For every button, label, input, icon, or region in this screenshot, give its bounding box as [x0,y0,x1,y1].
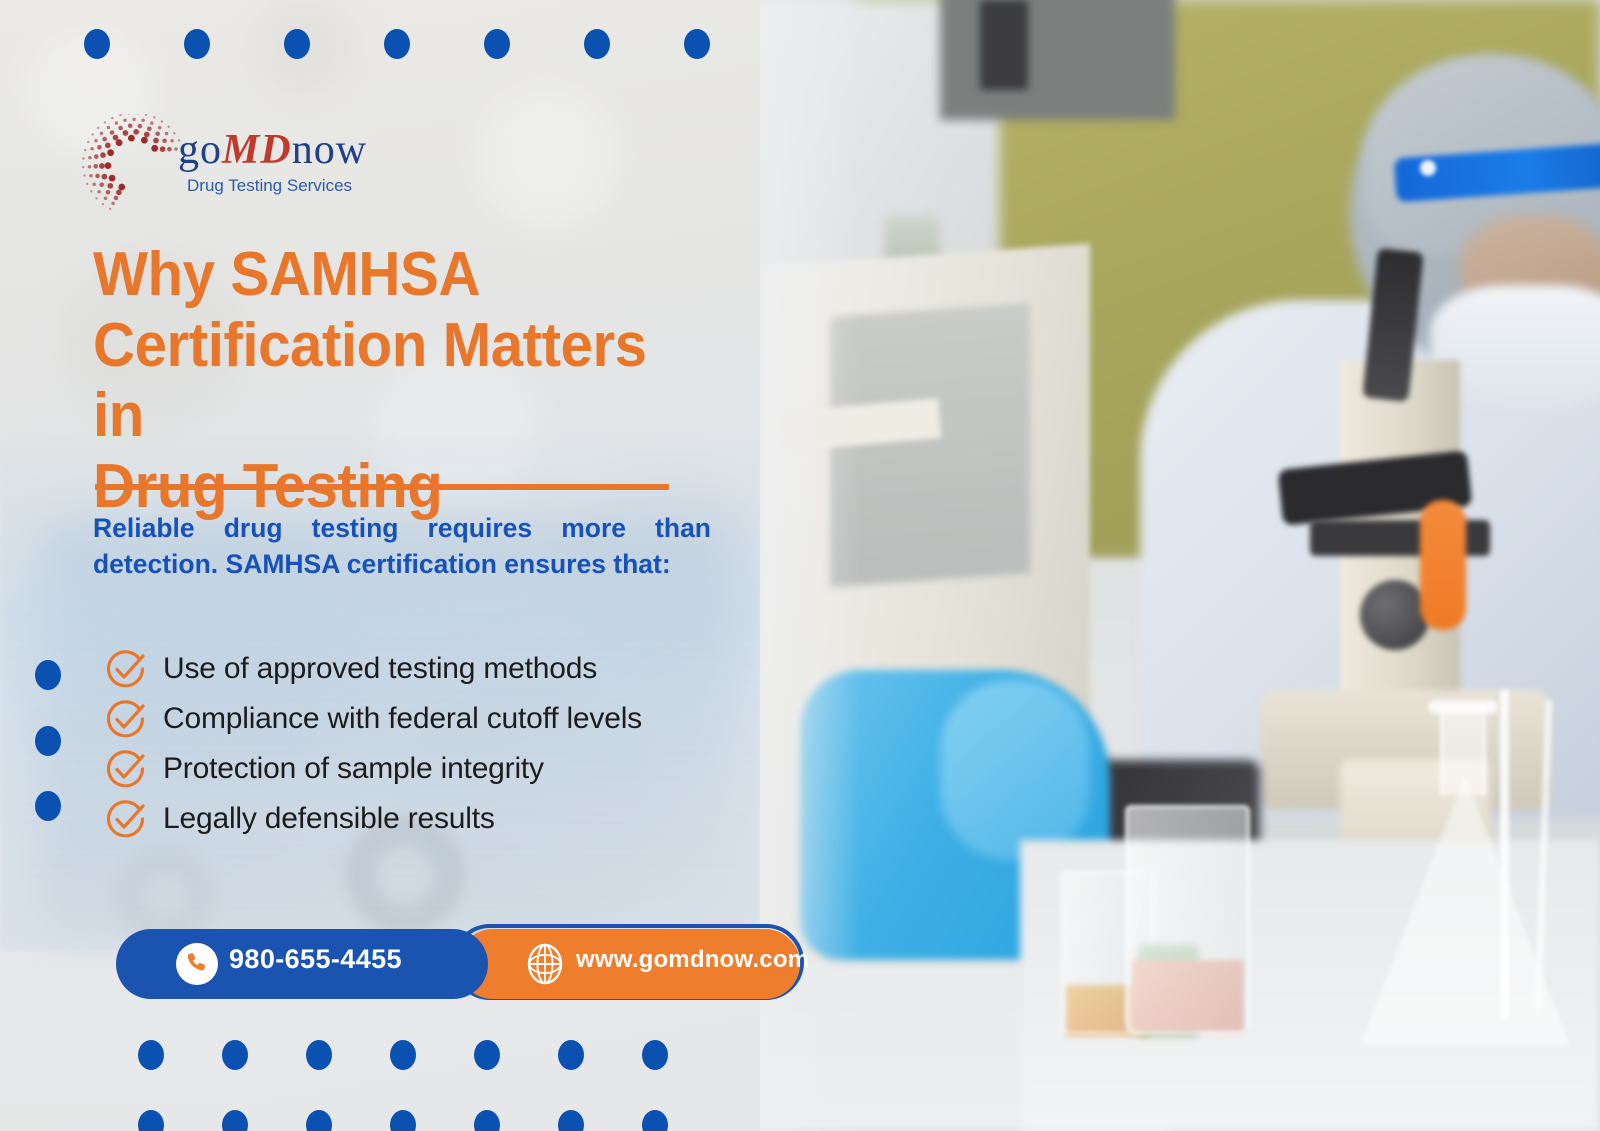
decor-dot-bottom-r1-2 [222,1040,248,1070]
check-circle-icon [103,746,149,792]
decor-dot-bottom-r1-3 [306,1040,332,1070]
decor-dot-side-2 [35,726,61,756]
decor-dot-side-1 [35,660,61,690]
checklist-item-label: Protection of sample integrity [163,752,544,786]
decor-dot-top-2 [184,29,210,59]
poster-canvas: goMDnow Drug Testing Services Why SAMHSA… [0,0,1600,1131]
decor-dot-top-1 [84,29,110,59]
checklist-item: Use of approved testing methods [103,644,723,694]
subheading-text: Reliable drug testing requires more than… [93,510,711,583]
lab-photo [740,0,1600,1131]
photo-wall-frame [940,0,1175,120]
decor-dot-top-7 [684,29,710,59]
photo-face-shield-dot [1420,160,1436,176]
decor-dot-bottom-r1-4 [390,1040,416,1070]
logo-wordmark: goMDnow [178,126,367,174]
logo-tagline: Drug Testing Services [187,176,352,196]
logo-text-go: go [178,127,222,173]
decor-dot-bottom-r1-5 [474,1040,500,1070]
checklist-item-label: Compliance with federal cutoff levels [163,702,642,736]
page-title: Why SAMHSA Certification Matters in Drug… [93,240,695,523]
dotted-crescent-logo-mark [82,114,182,214]
checklist-item: Compliance with federal cutoff levels [103,694,723,744]
decor-dot-bottom-r1-6 [558,1040,584,1070]
website-url-text[interactable]: www.gomdnow.com [576,946,809,974]
logo-text-now: now [292,127,367,173]
orange-divider [95,484,669,490]
decor-dot-top-3 [284,29,310,59]
decor-dot-top-5 [484,29,510,59]
phone-number-text[interactable]: 980-655-4455 [229,944,402,975]
headline-line-2: Certification Matters in [93,311,695,452]
checklist-item-label: Use of approved testing methods [163,652,597,686]
photo-flask-neck [1440,705,1486,795]
benefits-checklist: Use of approved testing methodsComplianc… [103,644,723,844]
photo-large-beaker [1125,805,1250,1035]
photo-orange-tube [1420,500,1466,630]
decor-dot-side-3 [35,791,61,821]
decor-dot-top-4 [384,29,410,59]
check-circle-icon [103,646,149,692]
check-circle-icon [103,696,149,742]
decor-dot-bottom-r1-7 [642,1040,668,1070]
phone-icon [176,943,218,985]
logo-text-md: MD [222,127,292,173]
checklist-item-label: Legally defensible results [163,802,495,836]
checklist-item: Protection of sample integrity [103,744,723,794]
checklist-item: Legally defensible results [103,794,723,844]
check-circle-icon [103,796,149,842]
decor-dot-bottom-r1-1 [138,1040,164,1070]
brand-logo[interactable]: goMDnow Drug Testing Services [82,112,422,218]
globe-icon [524,943,566,985]
photo-gloved-fingers [940,680,1090,860]
decor-dot-top-6 [584,29,610,59]
headline-line-1: Why SAMHSA [93,240,695,311]
photo-wall-frame-inner [980,0,1028,90]
photo-flask-lip [1428,700,1498,714]
photo-pipette [1500,690,1509,1020]
